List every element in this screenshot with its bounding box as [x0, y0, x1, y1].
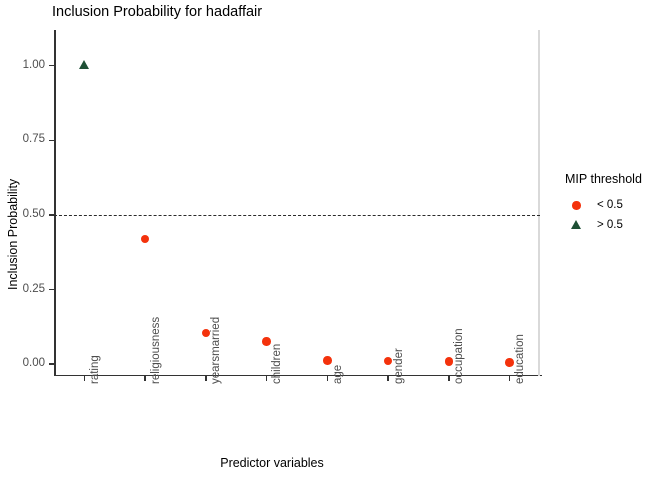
data-point-circle [141, 235, 150, 244]
y-tick-mark [49, 363, 54, 364]
inclusion-probability-chart: Inclusion Probability for hadaffair Incl… [0, 0, 672, 480]
y-tick-label: 0.00 [0, 357, 45, 369]
y-tick-mark [49, 140, 54, 141]
legend-entries: < 0.5> 0.5 [565, 195, 670, 235]
x-tick-label: religiousness [150, 317, 162, 384]
legend-marker [572, 201, 581, 210]
data-point-circle [323, 356, 332, 365]
data-point-triangle [79, 60, 89, 69]
legend-triangle-icon [569, 215, 591, 235]
x-tick-mark [327, 376, 328, 381]
x-axis-title: Predictor variables [0, 456, 544, 470]
x-tick-mark [144, 376, 145, 381]
x-tick-mark [84, 376, 85, 381]
data-point-circle [505, 358, 514, 367]
legend-circle-icon [569, 195, 591, 215]
x-tick-mark [448, 376, 449, 381]
legend-item: < 0.5 [569, 195, 670, 215]
y-tick-mark [49, 65, 54, 66]
x-tick-label: gender [393, 348, 405, 384]
legend-label: < 0.5 [597, 199, 623, 211]
y-axis-line [54, 30, 56, 376]
x-tick-mark [266, 376, 267, 381]
panel-right-rule [538, 30, 540, 376]
x-tick-label: yearsmarried [210, 317, 222, 384]
y-tick-label: 1.00 [0, 59, 45, 71]
legend-marker [571, 220, 581, 229]
data-point-circle [262, 337, 271, 346]
data-point-circle [384, 357, 393, 366]
x-tick-mark [509, 376, 510, 381]
legend: MIP threshold < 0.5> 0.5 [565, 172, 670, 235]
chart-title: Inclusion Probability for hadaffair [52, 4, 262, 20]
x-axis-line [54, 375, 542, 377]
data-point-circle [445, 357, 454, 366]
legend-item: > 0.5 [569, 215, 670, 235]
x-tick-label: age [332, 365, 344, 384]
x-tick-mark [387, 376, 388, 381]
x-tick-label: occupation [453, 328, 465, 384]
y-tick-label: 0.50 [0, 208, 45, 220]
threshold-dashed-line [54, 215, 540, 216]
x-tick-mark [205, 376, 206, 381]
y-tick-label: 0.25 [0, 283, 45, 295]
y-axis-title-wrap: Inclusion Probability [0, 0, 24, 480]
data-point-circle [202, 329, 211, 338]
x-tick-label: children [271, 344, 283, 384]
x-tick-label: rating [89, 355, 101, 384]
y-tick-label: 0.75 [0, 133, 45, 145]
legend-title: MIP threshold [565, 172, 670, 186]
x-tick-label: education [514, 334, 526, 384]
legend-label: > 0.5 [597, 219, 623, 231]
y-axis-title: Inclusion Probability [6, 179, 20, 290]
y-tick-mark [49, 289, 54, 290]
